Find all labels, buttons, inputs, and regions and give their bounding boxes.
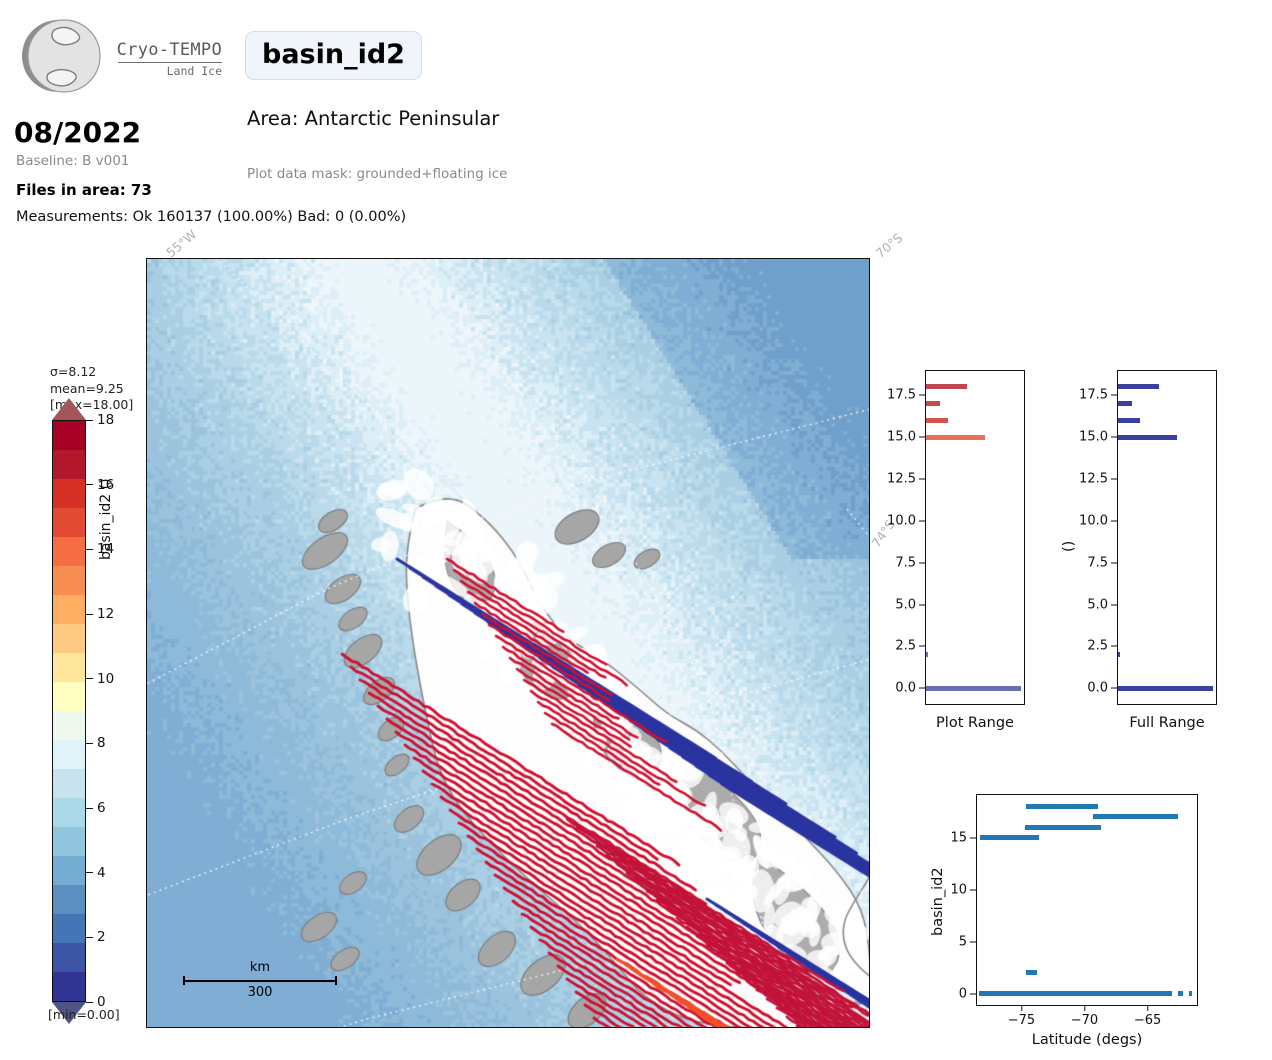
panel-y-label: () bbox=[1061, 540, 1077, 551]
scatter-segment-5 bbox=[979, 991, 1172, 996]
y-axis-label: basin_id2 bbox=[930, 867, 946, 936]
y-tick-15.0: 15.0 bbox=[887, 430, 925, 445]
colorbar-swatch-8 bbox=[53, 653, 85, 682]
histogram-bar-0 bbox=[926, 686, 1021, 691]
colorbar-tick-18: 18 bbox=[86, 412, 114, 428]
colorbar-tick-6: 6 bbox=[86, 800, 106, 816]
colorbar-tick-12: 12 bbox=[86, 606, 114, 622]
histogram-bar-18 bbox=[1118, 384, 1159, 389]
graticule-label-0: 55°W bbox=[163, 227, 199, 261]
y-tick-0.0: 0.0 bbox=[895, 681, 925, 696]
baseline-label: Baseline: B v001 bbox=[16, 153, 129, 169]
map-raster bbox=[147, 259, 870, 1028]
y-tick-5.0: 5.0 bbox=[895, 597, 925, 612]
histogram-bar-0 bbox=[1118, 686, 1213, 691]
basin-id-vs-latitude-panel[interactable]: 051015−75−70−65Latitude (degs)basin_id2 bbox=[920, 786, 1220, 1060]
y-tick-0: 0 bbox=[959, 986, 976, 1001]
x-tick-−70: −70 bbox=[1071, 1006, 1098, 1028]
colorbar-swatch-2 bbox=[53, 479, 85, 508]
scatter-segment-6 bbox=[1178, 991, 1183, 996]
y-tick-5.0: 5.0 bbox=[1087, 597, 1117, 612]
colorbar-tick-8: 8 bbox=[86, 735, 106, 751]
colorbar-sigma: σ=8.12 bbox=[50, 364, 133, 381]
colorbar-swatch-11 bbox=[53, 740, 85, 769]
colorbar-swatch-1 bbox=[53, 450, 85, 479]
date-label: 08/2022 bbox=[14, 116, 141, 149]
colorbar-swatch-14 bbox=[53, 827, 85, 856]
scalebar-unit: km bbox=[183, 961, 337, 975]
logo-divider bbox=[118, 62, 222, 63]
histogram-bar-16 bbox=[926, 418, 948, 423]
colorbar-swatch-3 bbox=[53, 508, 85, 537]
colorbar-swatch-6 bbox=[53, 595, 85, 624]
histogram-bar-15 bbox=[926, 435, 985, 440]
histogram-bar-17 bbox=[926, 401, 940, 406]
colorbar-tick-4: 4 bbox=[86, 865, 106, 881]
y-tick-12.5: 12.5 bbox=[1079, 471, 1117, 486]
y-tick-12.5: 12.5 bbox=[887, 471, 925, 486]
histogram-bar-16 bbox=[1118, 418, 1140, 423]
colorbar-swatch-5 bbox=[53, 566, 85, 595]
y-tick-15.0: 15.0 bbox=[1079, 430, 1117, 445]
colorbar-swatch-9 bbox=[53, 682, 85, 711]
colorbar-min-label: [min=0.00] bbox=[48, 1007, 120, 1022]
variable-badge[interactable]: basin_id2 bbox=[245, 31, 422, 80]
y-tick-2.5: 2.5 bbox=[895, 639, 925, 654]
y-tick-17.5: 17.5 bbox=[1079, 388, 1117, 403]
x-axis-label: Latitude (degs) bbox=[976, 1032, 1198, 1048]
histogram-bar-17 bbox=[1118, 401, 1132, 406]
graticule-label-1: 70°S bbox=[873, 230, 906, 261]
scatter-segment-2 bbox=[1025, 825, 1101, 830]
histogram-bar-2 bbox=[926, 652, 928, 657]
x-tick-−65: −65 bbox=[1134, 1006, 1161, 1028]
colorbar-swatch-15 bbox=[53, 856, 85, 885]
y-tick-5: 5 bbox=[959, 934, 976, 949]
colorbar-swatch-7 bbox=[53, 624, 85, 653]
cryo-tempo-logo: Cryo-TEMPO Land Ice bbox=[14, 12, 214, 100]
colorbar-swatch-17 bbox=[53, 914, 85, 943]
x-tick-−75: −75 bbox=[1008, 1006, 1035, 1028]
colorbar-swatch-10 bbox=[53, 711, 85, 740]
colorbar-swatch-13 bbox=[53, 798, 85, 827]
y-tick-10: 10 bbox=[950, 882, 976, 897]
colorbar-over-arrow bbox=[52, 398, 86, 420]
logo-title: Cryo-TEMPO bbox=[112, 42, 222, 59]
data-mask-label: Plot data mask: grounded+floating ice bbox=[247, 166, 507, 182]
colorbar bbox=[52, 420, 86, 1002]
colorbar-gradient bbox=[52, 420, 86, 1002]
scalebar-value: 300 bbox=[183, 986, 337, 1001]
y-tick-15: 15 bbox=[950, 830, 976, 845]
colorbar-swatch-16 bbox=[53, 885, 85, 914]
map-scalebar: km 300 bbox=[183, 961, 337, 1001]
y-tick-7.5: 7.5 bbox=[1087, 555, 1117, 570]
colorbar-tick-10: 10 bbox=[86, 671, 114, 687]
colorbar-swatch-4 bbox=[53, 537, 85, 566]
scatter-segment-0 bbox=[1026, 804, 1098, 809]
colorbar-axis-label: basin_id2 () bbox=[98, 478, 114, 560]
panel-caption: Plot Range bbox=[925, 715, 1025, 731]
colorbar-swatch-18 bbox=[53, 943, 85, 972]
area-label: Area: Antarctic Peninsular bbox=[247, 107, 499, 130]
y-tick-2.5: 2.5 bbox=[1087, 639, 1117, 654]
colorbar-tick-labels: 024681012141618 bbox=[86, 420, 146, 1002]
y-tick-10.0: 10.0 bbox=[887, 513, 925, 528]
colorbar-tick-2: 2 bbox=[86, 929, 106, 945]
scatter-segment-3 bbox=[980, 835, 1039, 840]
y-tick-0.0: 0.0 bbox=[1087, 681, 1117, 696]
colorbar-mean: mean=9.25 bbox=[50, 381, 133, 398]
histogram-bar-2 bbox=[1118, 652, 1120, 657]
y-tick-17.5: 17.5 bbox=[887, 388, 925, 403]
plot-range-histogram-panel[interactable]: 0.02.55.07.510.012.515.017.5Plot Range bbox=[880, 360, 1045, 760]
files-count-label: Files in area: 73 bbox=[16, 181, 152, 199]
panel-caption: Full Range bbox=[1117, 715, 1217, 731]
antarctic-peninsula-map[interactable]: km 300 bbox=[146, 258, 870, 1028]
colorbar-swatch-19 bbox=[53, 972, 85, 1001]
scalebar-line bbox=[183, 976, 337, 985]
logo-subtitle: Land Ice bbox=[112, 66, 222, 78]
scatter-segment-4 bbox=[1026, 970, 1036, 975]
measurements-label: Measurements: Ok 160137 (100.00%) Bad: 0… bbox=[16, 209, 406, 225]
y-tick-10.0: 10.0 bbox=[1079, 513, 1117, 528]
colorbar-swatch-0 bbox=[53, 421, 85, 450]
full-range-histogram-panel[interactable]: 0.02.55.07.510.012.515.017.5Full Range() bbox=[1072, 360, 1237, 760]
globe-ice-icon bbox=[14, 12, 106, 100]
histogram-bar-15 bbox=[1118, 435, 1177, 440]
y-tick-7.5: 7.5 bbox=[895, 555, 925, 570]
colorbar-swatch-12 bbox=[53, 769, 85, 798]
histogram-bar-18 bbox=[926, 384, 967, 389]
scatter-segment-7 bbox=[1189, 991, 1192, 996]
scatter-segment-1 bbox=[1093, 814, 1178, 819]
